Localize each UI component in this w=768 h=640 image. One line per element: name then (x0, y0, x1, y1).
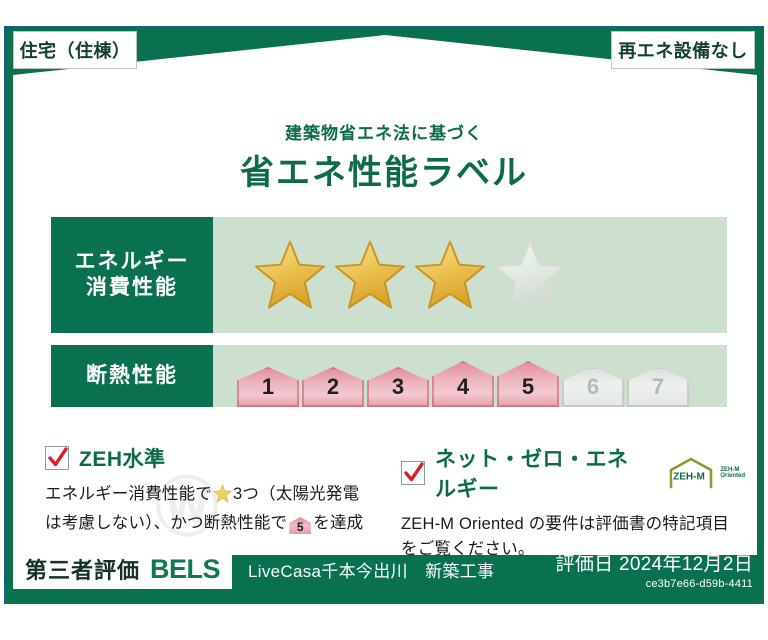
insulation-level-scale: 1234567 (213, 345, 689, 407)
badge-level-number: 3 (392, 376, 404, 407)
star-filled-icon (413, 238, 487, 312)
badge-level-number: 1 (262, 376, 274, 407)
star-empty-icon (493, 238, 567, 312)
insulation-level-badge: 3 (367, 376, 429, 407)
bottom-bar: 第三者評価 BELS LiveCasa千本今出川 新築工事 評価日 2024年1… (13, 541, 757, 597)
renewable-equipment-tag: 再エネ設備なし (611, 31, 755, 69)
zeh-desc-part1: エネルギー消費性能で (45, 485, 212, 503)
inline-insulation-badge: 5 (289, 517, 311, 534)
evaluation-info: 評価日 2024年12月2日 ce3b7e66-d59b-4411 (556, 549, 757, 590)
net-zero-energy-title: ネット・ゼロ・エネルギー (435, 443, 649, 503)
badge-level-number: 4 (457, 376, 469, 407)
energy-performance-label: エネルギー 消費性能 (51, 217, 213, 333)
energy-panel-body (213, 217, 727, 333)
star-filled-icon (253, 238, 327, 312)
zeh-standard-heading: ZEH水準 (45, 443, 375, 473)
zeh-m-house-icon: ZEH-M (665, 456, 717, 490)
zeh-desc-part4: を達成 (313, 514, 363, 532)
zeh-standard-title: ZEH水準 (79, 443, 166, 473)
evaluation-date: 評価日 2024年12月2日 (556, 549, 753, 576)
evaluation-id: ce3b7e66-d59b-4411 (556, 578, 753, 590)
insulation-level-badge: 5 (497, 376, 559, 407)
insulation-level-badge: 2 (302, 376, 364, 407)
zeh-m-logo-sub2: Oriented (720, 473, 745, 479)
energy-label-line2: 消費性能 (86, 275, 178, 301)
bels-logo: 第三者評価 BELS (13, 549, 232, 589)
insulation-level-badge: 7 (627, 376, 689, 407)
badge-level-number: 6 (587, 376, 599, 407)
check-icon (47, 445, 69, 471)
bels-en-text: BELS (150, 554, 220, 585)
insulation-level-badge: 1 (237, 376, 299, 407)
insulation-performance-panel: 断熱性能 1234567 (51, 345, 727, 407)
check-icon (403, 460, 425, 486)
badge-level-number: 7 (652, 376, 664, 407)
bels-energy-performance-label: 住宅（住棟） 再エネ設備なし 建築物省エネ法に基づく 省エネ性能ラベル エネルギ… (4, 26, 764, 604)
insulation-panel-body: 1234567 (213, 345, 727, 407)
insulation-level-badge: 4 (432, 376, 494, 407)
zeh-standard-checkbox[interactable] (45, 446, 69, 470)
zeh-desc-part3: は考慮しない）、かつ断熱性能で (45, 514, 287, 532)
star-rating (213, 238, 567, 312)
energy-label-line1: エネルギー (75, 249, 190, 275)
badge-level-number: 5 (522, 376, 534, 407)
zeh-standard-description: エネルギー消費性能で 3つ（太陽光発電 は考慮しない）、かつ断熱性能で5を達成 (45, 482, 375, 536)
property-name: LiveCasa千本今出川 新築工事 (248, 557, 494, 582)
net-zero-energy-checkbox[interactable] (401, 461, 425, 485)
insulation-performance-label: 断熱性能 (51, 345, 213, 407)
energy-performance-panel: エネルギー 消費性能 (51, 217, 727, 333)
net-zero-energy-heading: ネット・ゼロ・エネルギー ZEH-M ZEH-M Oriented (401, 443, 745, 503)
zeh-m-oriented-logo: ZEH-M ZEH-M Oriented (665, 456, 745, 490)
label-title: 省エネ性能ラベル (5, 145, 763, 194)
label-subtitle: 建築物省エネ法に基づく (5, 119, 763, 144)
inline-star-icon (213, 484, 232, 511)
insulation-level-badge: 6 (562, 376, 624, 407)
building-type-tag: 住宅（住棟） (13, 31, 137, 69)
zeh-standard-block: ZEH水準 エネルギー消費性能で 3つ（太陽光発電 は考慮しない）、かつ断熱性能… (45, 443, 375, 536)
svg-text:ZEH-M: ZEH-M (673, 472, 705, 483)
star-filled-icon (333, 238, 407, 312)
badge-level-number: 2 (327, 376, 339, 407)
zeh-desc-part2: 3つ（太陽光発電 (233, 485, 359, 503)
bels-jp-text: 第三者評価 (25, 553, 140, 585)
